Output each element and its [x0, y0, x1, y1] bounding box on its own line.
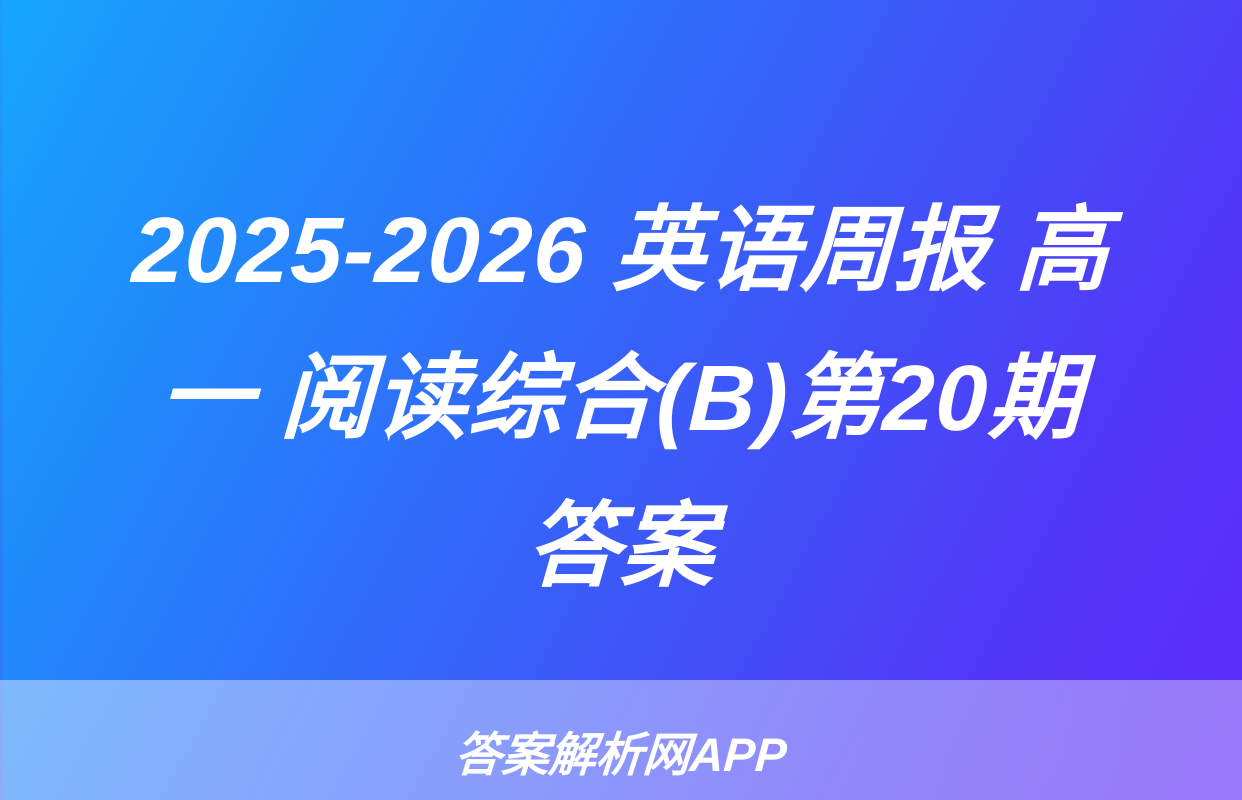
page-title-line-1: 2025-2026 英语周报 高	[31, 176, 1210, 324]
app-watermark-label: 答案解析网APP	[454, 731, 789, 778]
page-title-line-3: 答案	[31, 472, 1210, 620]
cover-title-block: 2025-2026 英语周报 高 一 阅读综合(B)第20期 答案	[0, 176, 1242, 620]
footer-watermark-bar: 答案解析网APP	[0, 680, 1242, 800]
page-title-line-2: 一 阅读综合(B)第20期	[31, 324, 1210, 472]
answer-cover-card: 2025-2026 英语周报 高 一 阅读综合(B)第20期 答案 答案解析网A…	[0, 0, 1242, 800]
